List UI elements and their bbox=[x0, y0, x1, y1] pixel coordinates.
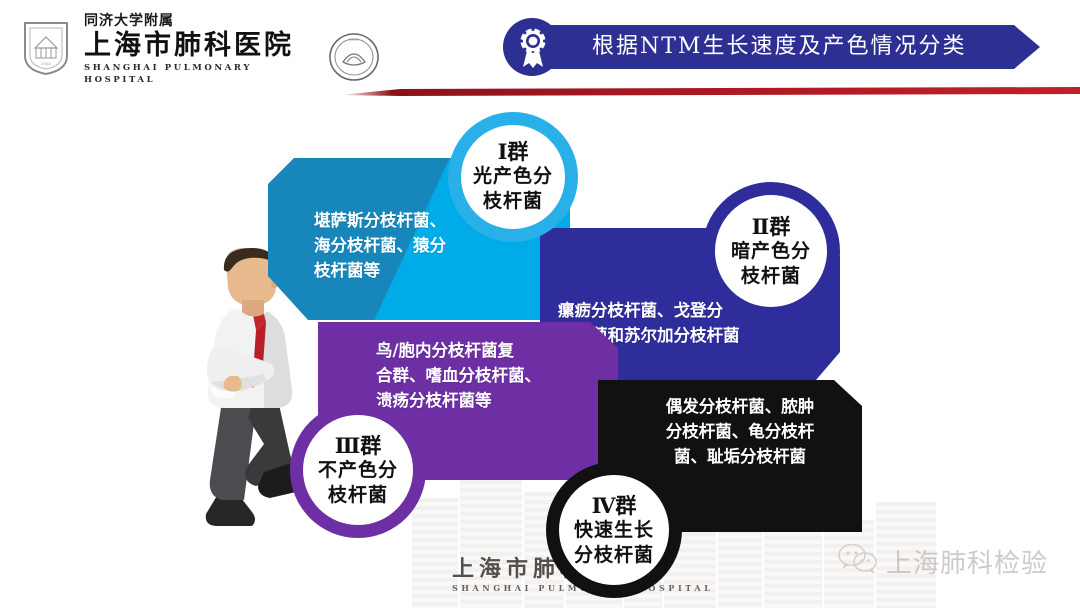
group-bubble-1[interactable]: Ⅰ群 光产色分 枝杆菌 bbox=[448, 112, 578, 242]
group-bubble-4-caption: 快速生长 分枝杆菌 bbox=[574, 518, 654, 568]
wechat-watermark: 上海肺科检验 bbox=[838, 540, 1048, 582]
svg-text:1907: 1907 bbox=[349, 37, 360, 42]
group-bubble-2-caption: 暗产色分 枝杆菌 bbox=[731, 239, 811, 289]
header-divider bbox=[340, 87, 1080, 96]
group-bubble-1-caption: 光产色分 枝杆菌 bbox=[473, 164, 553, 214]
slide-header: 1933 同济大学附属 上海市肺科医院 SHANGHAI PULMONARY H… bbox=[0, 0, 1080, 96]
group-bubble-4-number: Ⅳ群 bbox=[592, 493, 637, 518]
group-bubble-2-number: Ⅱ群 bbox=[752, 214, 791, 239]
slide-title-banner: 根据NTM生长速度及产色情况分类 bbox=[546, 25, 1040, 69]
tongji-university-seal-icon: 1907 bbox=[328, 32, 380, 82]
university-affiliation-label: 同济大学附属 bbox=[84, 12, 324, 30]
group-block-3-body: 鸟/胞内分枝杆菌复 合群、嗜血分枝杆菌、 溃疡分枝杆菌等 bbox=[376, 338, 626, 413]
group-block-4-body: 偶发分枝杆菌、脓肿 分枝杆菌、龟分枝杆 菌、耻垢分枝杆菌 bbox=[622, 394, 858, 469]
hospital-crest-icon: 1933 bbox=[22, 20, 70, 76]
svg-text:1933: 1933 bbox=[41, 61, 52, 66]
hospital-name-en: SHANGHAI PULMONARY HOSPITAL bbox=[84, 62, 324, 86]
group-bubble-3-caption: 不产色分 枝杆菌 bbox=[318, 458, 398, 508]
group-bubble-1-number: Ⅰ群 bbox=[498, 140, 529, 164]
group-bubble-3[interactable]: Ⅲ群 不产色分 枝杆菌 bbox=[290, 402, 426, 538]
group-bubble-3-number: Ⅲ群 bbox=[335, 433, 382, 458]
hospital-logo: 1933 同济大学附属 上海市肺科医院 SHANGHAI PULMONARY H… bbox=[22, 8, 382, 86]
hospital-logo-text: 同济大学附属 上海市肺科医院 SHANGHAI PULMONARY HOSPIT… bbox=[84, 12, 324, 86]
wechat-account-label: 上海肺科检验 bbox=[886, 543, 1048, 580]
slide-canvas: 1933 同济大学附属 上海市肺科医院 SHANGHAI PULMONARY H… bbox=[0, 0, 1080, 608]
hospital-name-cn: 上海市肺科医院 bbox=[84, 30, 324, 62]
wechat-icon bbox=[838, 542, 878, 580]
group-bubble-4[interactable]: Ⅳ群 快速生长 分枝杆菌 bbox=[546, 462, 682, 598]
group-bubble-2[interactable]: Ⅱ群 暗产色分 枝杆菌 bbox=[702, 182, 840, 320]
page-title: 根据NTM生长速度及产色情况分类 bbox=[592, 25, 966, 69]
